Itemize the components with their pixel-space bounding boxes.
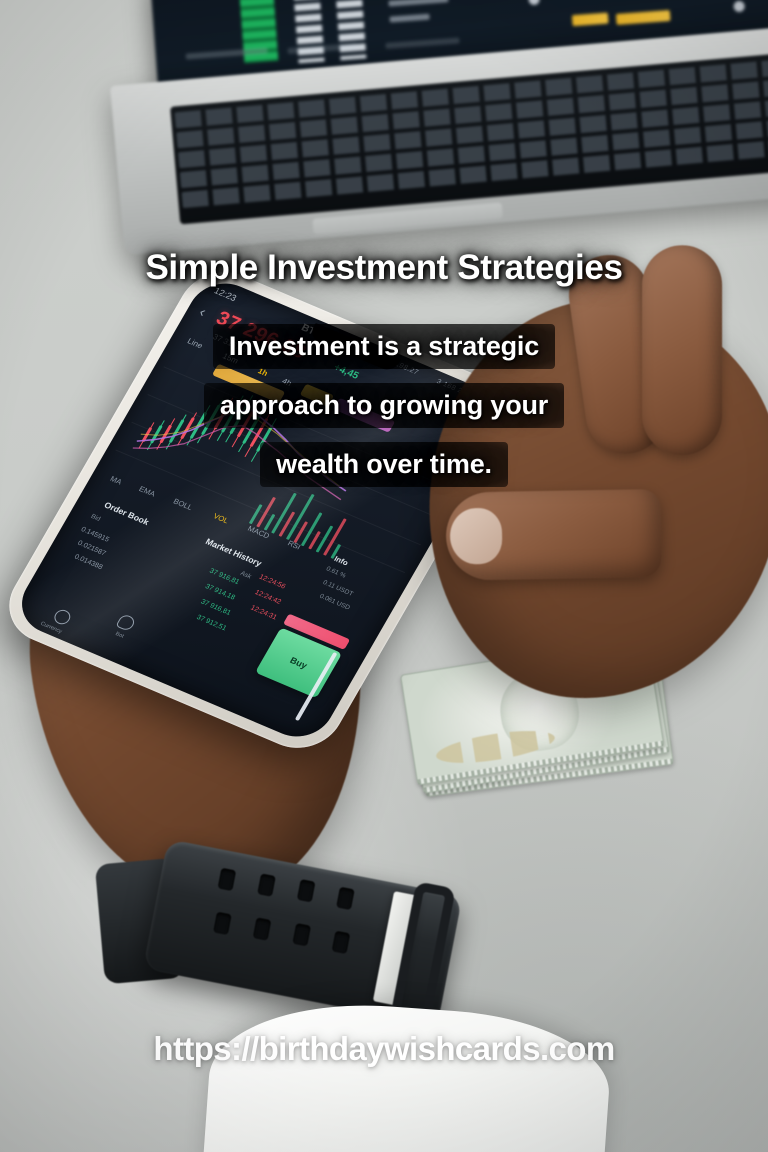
poster-image: 12:23 BTC / USDT 38 198.27 3 168 21... ‹…	[0, 0, 768, 1152]
website-url[interactable]: https://birthdaywishcards.com	[0, 1030, 768, 1068]
body-line: wealth over time.	[260, 442, 508, 487]
text-overlay: Simple Investment Strategies Investment …	[0, 0, 768, 1152]
body-line: approach to growing your	[204, 383, 564, 428]
body-text-block: Investment is a strategic approach to gr…	[0, 324, 768, 501]
page-title: Simple Investment Strategies	[0, 248, 768, 288]
body-line: Investment is a strategic	[213, 324, 555, 369]
